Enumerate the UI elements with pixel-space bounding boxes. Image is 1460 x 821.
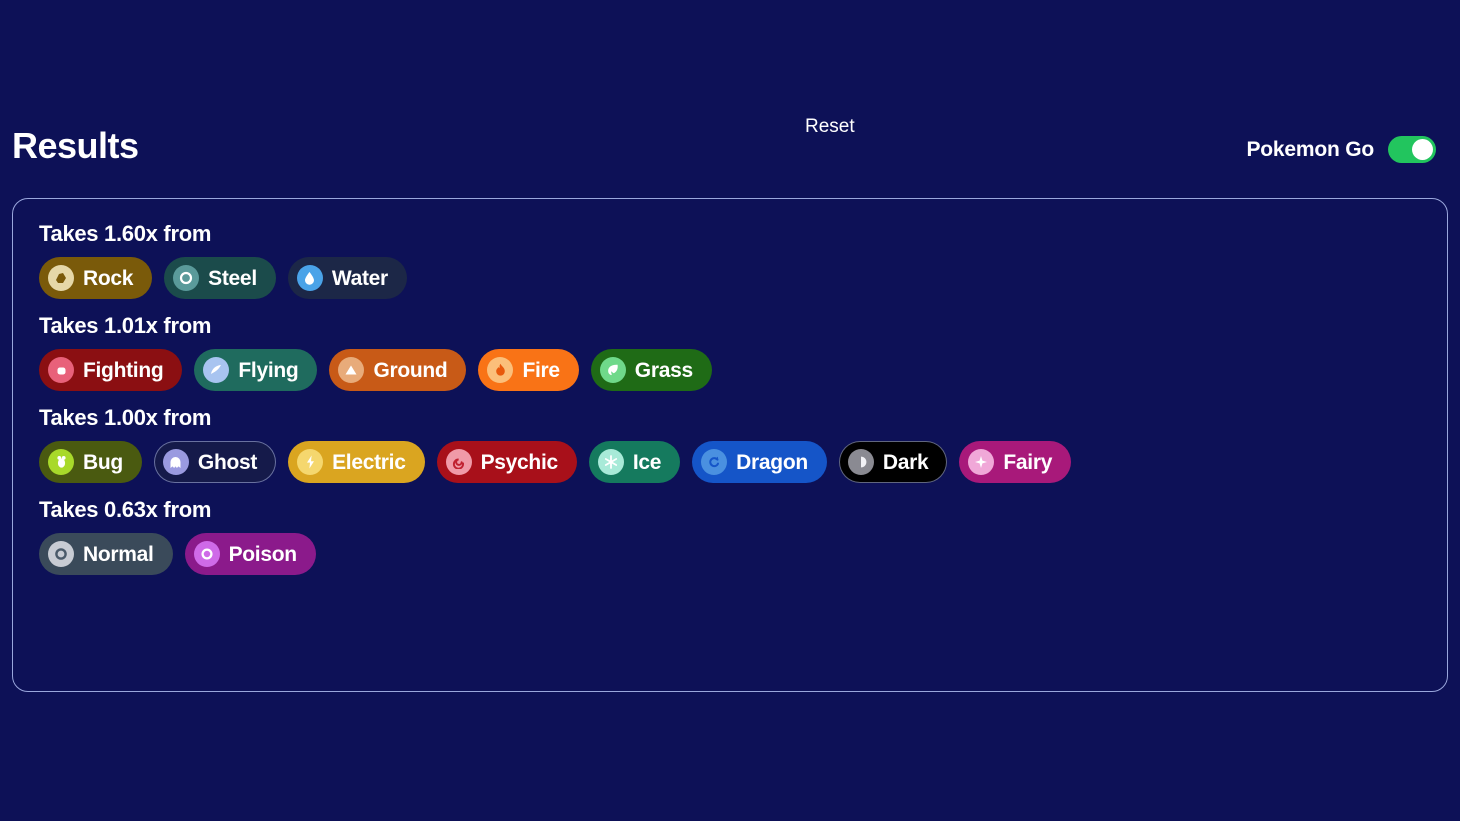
wing-icon [203, 357, 229, 383]
type-chip-psychic[interactable]: Psychic [437, 441, 577, 483]
results-section: Takes 0.63x fromNormalPoison [39, 497, 1421, 575]
pokemon-go-label: Pokemon Go [1246, 138, 1374, 162]
type-chip-label: Rock [83, 268, 133, 289]
type-chip-label: Psychic [481, 452, 558, 473]
type-chip-label: Dark [883, 452, 929, 473]
page-header: Results Reset Pokemon Go [0, 108, 1460, 180]
type-chip-label: Dragon [736, 452, 808, 473]
bug-icon [48, 449, 74, 475]
type-chip-label: Flying [238, 360, 298, 381]
results-section: Takes 1.01x fromFightingFlyingGroundFire… [39, 313, 1421, 391]
type-chip-ice[interactable]: Ice [589, 441, 680, 483]
circle-icon [48, 541, 74, 567]
steel-icon [173, 265, 199, 291]
results-section: Takes 1.60x fromRockSteelWater [39, 221, 1421, 299]
type-chip-label: Fire [522, 360, 559, 381]
type-chip-fighting[interactable]: Fighting [39, 349, 182, 391]
type-chip-normal[interactable]: Normal [39, 533, 173, 575]
page-title: Results [12, 128, 139, 164]
type-chip-label: Steel [208, 268, 257, 289]
type-chip-label: Grass [635, 360, 693, 381]
droplet-icon [194, 541, 220, 567]
type-chip-label: Fairy [1003, 452, 1052, 473]
leaf-icon [600, 357, 626, 383]
type-chip-electric[interactable]: Electric [288, 441, 424, 483]
type-chip-label: Fighting [83, 360, 163, 381]
type-chip-label: Ghost [198, 452, 257, 473]
section-heading: Takes 1.00x from [39, 405, 1421, 431]
pokemon-go-toggle-group: Pokemon Go [1246, 136, 1436, 163]
type-chip-ground[interactable]: Ground [329, 349, 466, 391]
type-chip-label: Electric [332, 452, 405, 473]
type-chip-label: Ice [633, 452, 661, 473]
ghost-icon [163, 449, 189, 475]
type-chip-ghost[interactable]: Ghost [154, 441, 276, 483]
moon-icon [848, 449, 874, 475]
pokemon-go-switch[interactable] [1388, 136, 1436, 163]
toggle-knob [1412, 139, 1433, 160]
type-chip-row: NormalPoison [39, 533, 1421, 575]
type-chip-grass[interactable]: Grass [591, 349, 712, 391]
type-chip-row: FightingFlyingGroundFireGrass [39, 349, 1421, 391]
type-chip-row: RockSteelWater [39, 257, 1421, 299]
bolt-icon [297, 449, 323, 475]
results-section: Takes 1.00x fromBugGhostElectricPsychicI… [39, 405, 1421, 483]
section-heading: Takes 1.60x from [39, 221, 1421, 247]
type-chip-label: Poison [229, 544, 297, 565]
water-icon [297, 265, 323, 291]
type-chip-poison[interactable]: Poison [185, 533, 316, 575]
type-chip-row: BugGhostElectricPsychicIceDragonDarkFair… [39, 441, 1421, 483]
type-chip-fairy[interactable]: Fairy [959, 441, 1071, 483]
sparkle-icon [968, 449, 994, 475]
type-chip-dragon[interactable]: Dragon [692, 441, 827, 483]
dragon-icon [701, 449, 727, 475]
results-card: Takes 1.60x fromRockSteelWaterTakes 1.01… [12, 198, 1448, 692]
reset-button[interactable]: Reset [801, 114, 859, 141]
fist-icon [48, 357, 74, 383]
section-heading: Takes 0.63x from [39, 497, 1421, 523]
type-chip-steel[interactable]: Steel [164, 257, 276, 299]
mountain-icon [338, 357, 364, 383]
section-heading: Takes 1.01x from [39, 313, 1421, 339]
rock-icon [48, 265, 74, 291]
swirl-icon [446, 449, 472, 475]
type-chip-rock[interactable]: Rock [39, 257, 152, 299]
flame-icon [487, 357, 513, 383]
type-chip-water[interactable]: Water [288, 257, 407, 299]
type-chip-label: Normal [83, 544, 154, 565]
type-chip-label: Bug [83, 452, 123, 473]
type-chip-fire[interactable]: Fire [478, 349, 578, 391]
type-chip-label: Ground [373, 360, 447, 381]
type-chip-flying[interactable]: Flying [194, 349, 317, 391]
type-chip-bug[interactable]: Bug [39, 441, 142, 483]
type-chip-label: Water [332, 268, 388, 289]
snowflake-icon [598, 449, 624, 475]
type-chip-dark[interactable]: Dark [839, 441, 948, 483]
